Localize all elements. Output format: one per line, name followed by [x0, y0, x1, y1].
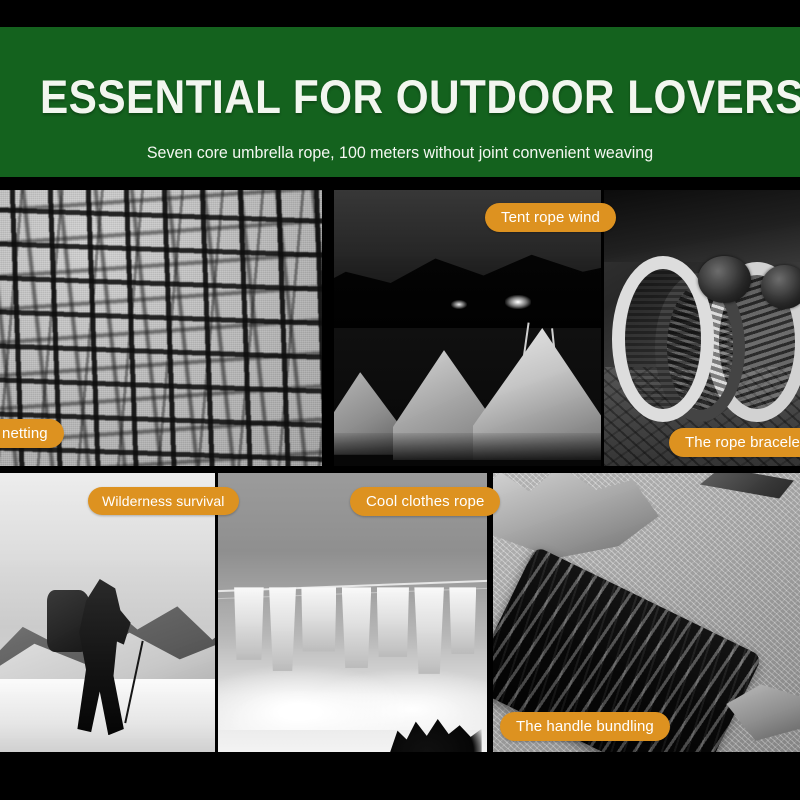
- photo-grid: [0, 190, 800, 752]
- label-handle-bundling: The handle bundling: [500, 712, 670, 741]
- page-title: ESSENTIAL FOR OUTDOOR LOVERS: [40, 71, 760, 123]
- product-banner-image: ESSENTIAL FOR OUTDOOR LOVERS Seven core …: [0, 0, 800, 800]
- photo-tile-bracelet[interactable]: [604, 190, 800, 466]
- label-wilderness-survival: Wilderness survival: [88, 487, 239, 515]
- label-tent-rope-wind: Tent rope wind: [485, 203, 616, 232]
- page-subtitle: Seven core umbrella rope, 100 meters wit…: [12, 142, 788, 164]
- bracelet-photo: [604, 190, 800, 466]
- header-banner: ESSENTIAL FOR OUTDOOR LOVERS Seven core …: [0, 27, 800, 177]
- label-netting: netting: [0, 419, 64, 448]
- handle-photo: [493, 473, 800, 752]
- photo-tile-handle[interactable]: [493, 473, 800, 752]
- label-rope-bracelet: The rope bracelet: [669, 428, 800, 457]
- label-cool-clothes-rope: Cool clothes rope: [350, 487, 500, 516]
